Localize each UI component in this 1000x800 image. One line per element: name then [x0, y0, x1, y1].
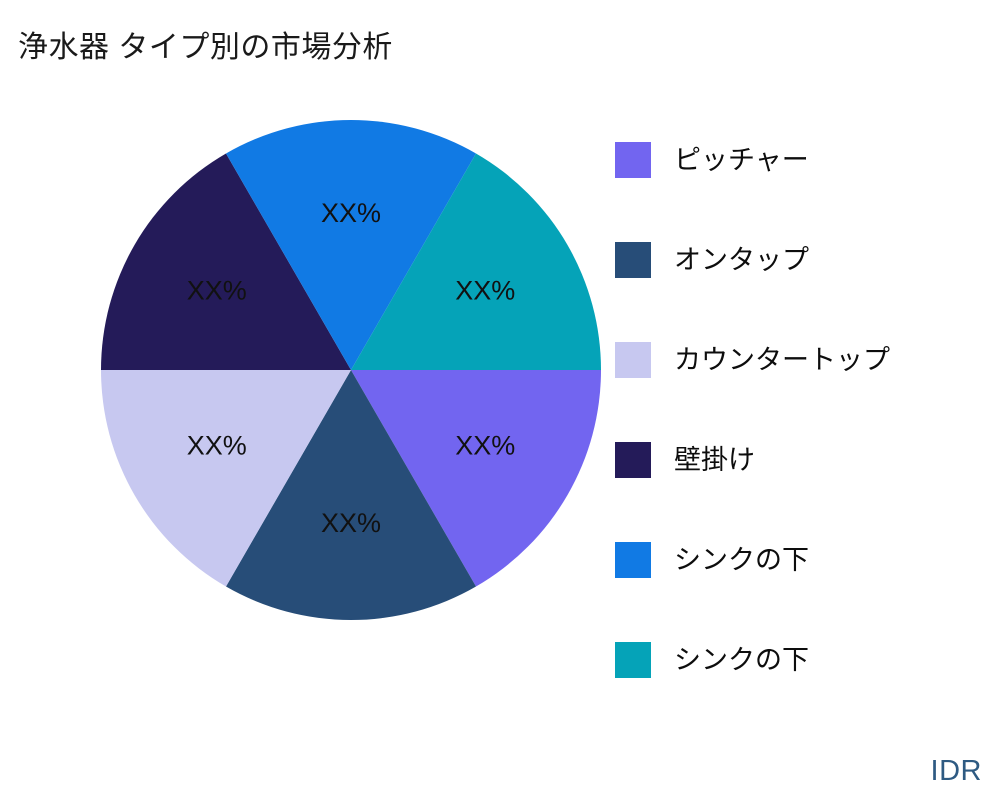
legend-color-swatch: [615, 442, 651, 478]
pie-slice-label: XX%: [455, 431, 515, 461]
pie-slice-label: XX%: [321, 198, 381, 228]
pie-chart: XX%XX%XX%XX%XX%XX%: [101, 120, 601, 620]
legend-color-swatch: [615, 242, 651, 278]
pie-slice-label: XX%: [321, 508, 381, 538]
pie-slice-label: XX%: [187, 431, 247, 461]
legend-item[interactable]: カウンタートップ: [615, 310, 995, 410]
legend-color-swatch: [615, 342, 651, 378]
legend-color-swatch: [615, 642, 651, 678]
legend-color-swatch: [615, 142, 651, 178]
legend-item[interactable]: 壁掛け: [615, 410, 995, 510]
page-title: 浄水器 タイプ別の市場分析: [18, 22, 393, 66]
legend-item-label: 壁掛け: [674, 447, 755, 474]
pie-chart-svg: XX%XX%XX%XX%XX%XX%: [101, 120, 601, 620]
legend-item[interactable]: シンクの下: [615, 610, 995, 710]
legend-item-label: カウンタートップ: [674, 347, 890, 374]
legend-item-label: オンタップ: [674, 247, 809, 274]
legend: ピッチャーオンタップカウンタートップ壁掛けシンクの下シンクの下: [615, 110, 995, 710]
legend-item-label: シンクの下: [674, 547, 809, 574]
legend-color-swatch: [615, 542, 651, 578]
legend-item[interactable]: オンタップ: [615, 210, 995, 310]
legend-item-label: ピッチャー: [674, 147, 809, 174]
legend-item[interactable]: シンクの下: [615, 510, 995, 610]
pie-slice-label: XX%: [455, 276, 515, 306]
legend-item-label: シンクの下: [674, 647, 809, 674]
pie-slice-label: XX%: [187, 276, 247, 306]
legend-item[interactable]: ピッチャー: [615, 110, 995, 210]
watermark-idr: IDR: [931, 755, 982, 788]
pie-slice-group: [101, 120, 601, 620]
